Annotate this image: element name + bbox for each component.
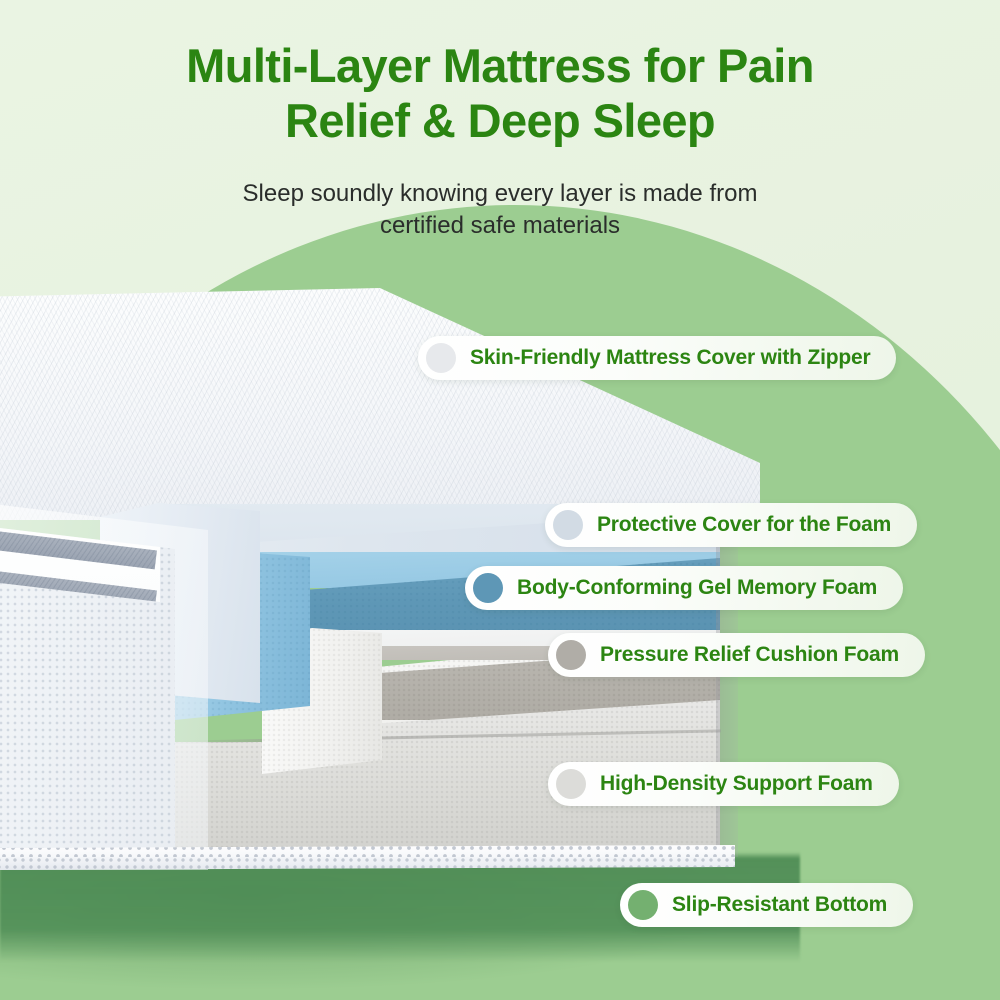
callout-dot-icon [553, 510, 583, 540]
callout-label: Skin-Friendly Mattress Cover with Zipper [470, 346, 870, 370]
callout-label: Protective Cover for the Foam [597, 513, 891, 537]
callout-gel-memory-foam[interactable]: Body-Conforming Gel Memory Foam [465, 566, 903, 610]
callout-dot-icon [556, 640, 586, 670]
callout-label: Pressure Relief Cushion Foam [600, 643, 899, 667]
callout-dot-icon [556, 769, 586, 799]
page-subtitle-line-1: Sleep soundly knowing every layer is mad… [0, 178, 1000, 210]
callout-protective-cover[interactable]: Protective Cover for the Foam [545, 503, 917, 547]
page-subtitle-line-2: certified safe materials [0, 210, 1000, 242]
callout-label: High-Density Support Foam [600, 772, 873, 796]
page-title-line-1: Multi-Layer Mattress for Pain [0, 38, 1000, 93]
callout-support-foam[interactable]: High-Density Support Foam [548, 762, 899, 806]
callout-label: Slip-Resistant Bottom [672, 893, 887, 917]
product-infographic: Multi-Layer Mattress for Pain Relief & D… [0, 0, 1000, 1000]
page-subtitle: Sleep soundly knowing every layer is mad… [0, 178, 1000, 243]
callout-pressure-relief-foam[interactable]: Pressure Relief Cushion Foam [548, 633, 925, 677]
page-title-line-2: Relief & Deep Sleep [0, 93, 1000, 148]
layer-slip-resistant-bottom-face [0, 857, 735, 871]
page-title: Multi-Layer Mattress for Pain Relief & D… [0, 38, 1000, 149]
callout-label: Body-Conforming Gel Memory Foam [517, 576, 877, 600]
callout-dot-icon [473, 573, 503, 603]
callout-skin-friendly-cover[interactable]: Skin-Friendly Mattress Cover with Zipper [418, 336, 896, 380]
callout-slip-resistant-bottom[interactable]: Slip-Resistant Bottom [620, 883, 913, 927]
callout-dot-icon [426, 343, 456, 373]
callout-dot-icon [628, 890, 658, 920]
layer-knit-cover-top [0, 288, 760, 520]
